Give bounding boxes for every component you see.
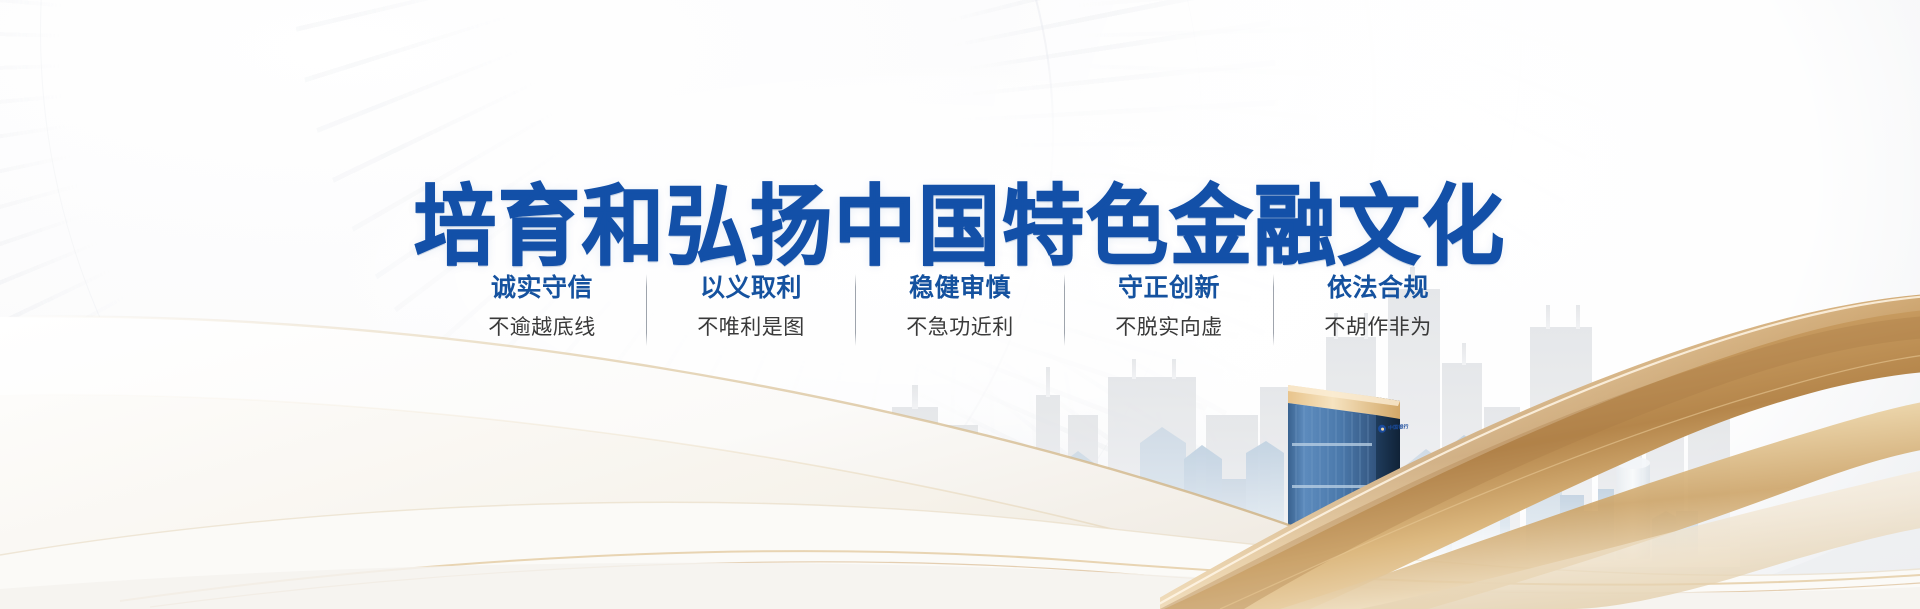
value-item-1: 诚实守信 不逾越底线	[466, 272, 618, 341]
value-title: 稳健审慎	[909, 272, 1011, 304]
value-item-2: 以义取利 不唯利是图	[675, 272, 827, 341]
value-divider-1	[646, 274, 647, 346]
value-title: 诚实守信	[491, 272, 593, 304]
value-subtitle: 不逾越底线	[488, 313, 596, 341]
value-subtitle: 不唯利是图	[697, 313, 805, 341]
value-title: 依法合规	[1327, 272, 1429, 304]
value-divider-2	[855, 274, 856, 346]
value-divider-3	[1064, 274, 1065, 346]
page-title: 培育和弘扬中国特色金融文化	[0, 177, 1920, 279]
finance-culture-banner: 中国银行	[0, 0, 1920, 609]
value-title: 以义取利	[700, 272, 802, 304]
value-item-4: 守正创新 不脱实向虚	[1093, 272, 1245, 341]
value-title: 守正创新	[1118, 272, 1220, 304]
value-subtitle: 不胡作非为	[1324, 313, 1432, 341]
banner-content: 培育和弘扬中国特色金融文化 诚实守信 不逾越底线 以义取利 不唯利是图 稳健审慎…	[0, 0, 1920, 609]
value-subtitle: 不脱实向虚	[1115, 313, 1223, 341]
value-divider-4	[1273, 274, 1274, 346]
value-item-5: 依法合规 不胡作非为	[1302, 272, 1454, 341]
core-values-list: 诚实守信 不逾越底线 以义取利 不唯利是图 稳健审慎 不急功近利 守正创新 不脱…	[0, 272, 1920, 346]
value-item-3: 稳健审慎 不急功近利	[884, 272, 1036, 341]
value-subtitle: 不急功近利	[906, 313, 1014, 341]
